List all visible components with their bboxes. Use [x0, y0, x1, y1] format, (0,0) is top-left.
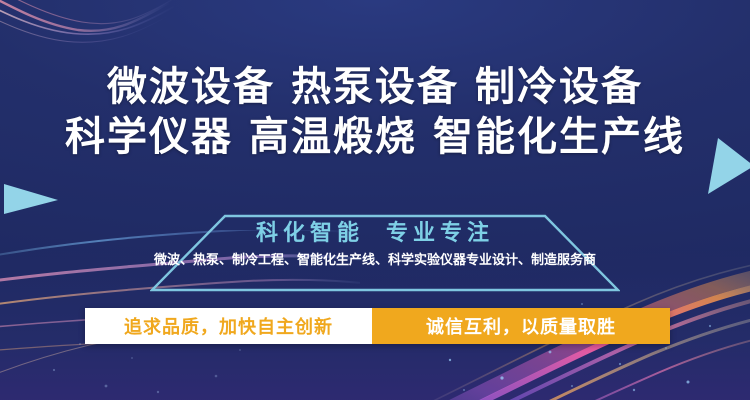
slogan-bar: 追求品质，加快自主创新 诚信互利，以质量取胜 — [85, 308, 670, 344]
headline-line2-part2: 高温煅烧 — [249, 115, 417, 159]
subtitle-block: 科化智能专业专注 微波、热泵、制冷工程、智能化生产线、科学实验仪器专业设计、制造… — [0, 218, 750, 269]
subtitle-main-left: 科化智能 — [256, 220, 364, 245]
subtitle-main: 科化智能专业专注 — [0, 218, 750, 248]
headline-line1-part1: 微波设备 — [107, 65, 275, 109]
headline-line-1: 微波设备热泵设备制冷设备 — [0, 62, 750, 112]
headline-line2-part3: 智能化生产线 — [433, 115, 685, 159]
play-triangle-icon-left — [4, 180, 58, 214]
headline-line-2: 科学仪器高温煅烧智能化生产线 — [0, 112, 750, 162]
subtitle-description: 微波、热泵、制冷工程、智能化生产线、科学实验仪器专业设计、制造服务商 — [0, 251, 750, 269]
subtitle-main-right: 专业专注 — [386, 220, 494, 245]
headline-block: 微波设备热泵设备制冷设备 科学仪器高温煅烧智能化生产线 — [0, 62, 750, 162]
headline-line2-part1: 科学仪器 — [65, 115, 233, 159]
promo-banner: 微波设备热泵设备制冷设备 科学仪器高温煅烧智能化生产线 科化智能专业专注 微波、… — [0, 0, 750, 400]
slogan-right: 诚信互利，以质量取胜 — [372, 308, 670, 344]
slogan-left: 追求品质，加快自主创新 — [85, 308, 372, 344]
headline-line1-part2: 热泵设备 — [291, 65, 459, 109]
headline-line1-part3: 制冷设备 — [475, 65, 643, 109]
